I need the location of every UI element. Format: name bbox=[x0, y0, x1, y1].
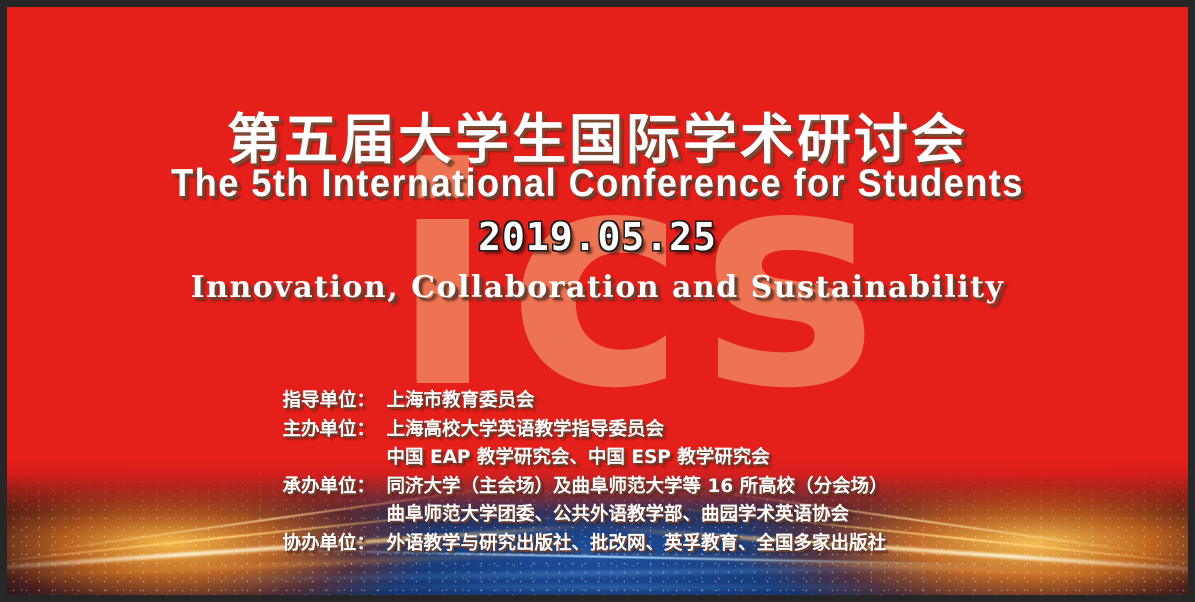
conference-date: 2019.05.25 bbox=[7, 215, 1188, 259]
organizer-row: 协办单位： 外语教学与研究出版社、批改网、英孚教育、全国多家出版社 bbox=[283, 530, 913, 559]
banner-content: 第五届大学生国际学术研讨会 The 5th International Conf… bbox=[7, 7, 1188, 595]
conference-tagline: Innovation, Collaboration and Sustainabi… bbox=[7, 270, 1188, 305]
organizer-value: 中国 EAP 教学研究会、中国 ESP 教学研究会 bbox=[387, 444, 913, 473]
organizer-list: 指导单位： 上海市教育委员会 主办单位： 上海高校大学英语教学指导委员会 中国 … bbox=[7, 387, 1188, 558]
organizer-value: 曲阜师范大学团委、公共外语教学部、曲园学术英语协会 bbox=[387, 501, 913, 530]
organizer-row: 承办单位： 同济大学（主会场）及曲阜师范大学等 16 所高校（分会场） bbox=[283, 473, 913, 502]
organizer-row: 指导单位： 上海市教育委员会 bbox=[283, 387, 913, 416]
organizer-value: 外语教学与研究出版社、批改网、英孚教育、全国多家出版社 bbox=[387, 530, 913, 559]
organizer-label: 协办单位： bbox=[283, 530, 387, 559]
organizer-row: 曲阜师范大学团委、公共外语教学部、曲园学术英语协会 bbox=[283, 501, 913, 530]
organizer-label: 主办单位： bbox=[283, 416, 387, 445]
organizer-row: 中国 EAP 教学研究会、中国 ESP 教学研究会 bbox=[283, 444, 913, 473]
organizer-row: 主办单位： 上海高校大学英语教学指导委员会 bbox=[283, 416, 913, 445]
banner-stage: ics 第五届大学生国际学术研讨会 The bbox=[7, 7, 1188, 595]
organizer-value: 同济大学（主会场）及曲阜师范大学等 16 所高校（分会场） bbox=[387, 473, 913, 502]
organizer-value: 上海高校大学英语教学指导委员会 bbox=[387, 416, 913, 445]
conference-title-english: The 5th International Conference for Stu… bbox=[48, 162, 1146, 206]
organizer-label: 承办单位： bbox=[283, 473, 387, 502]
organizer-value: 上海市教育委员会 bbox=[387, 387, 913, 416]
conference-banner: ics 第五届大学生国际学术研讨会 The bbox=[0, 0, 1195, 602]
organizer-label: 指导单位： bbox=[283, 387, 387, 416]
